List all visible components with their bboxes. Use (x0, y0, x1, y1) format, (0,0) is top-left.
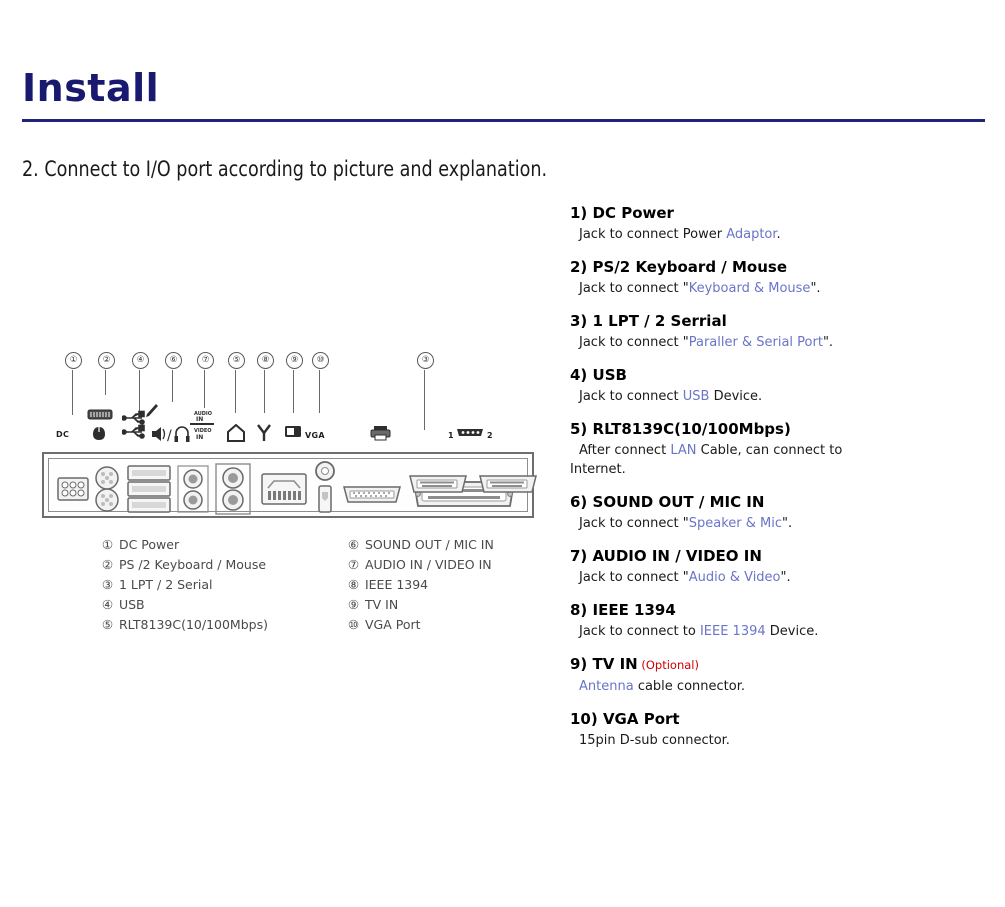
legend-item: ③ 1 LPT / 2 Serial (100, 575, 268, 595)
callout-leader-line (293, 370, 294, 413)
explanation-body-before: Jack to connect Power (579, 227, 726, 242)
callout-number: ⑦ (197, 352, 214, 369)
legend-item: ⑥ SOUND OUT / MIC IN (346, 535, 494, 555)
explanation-body: Jack to connect "Audio & Video". (570, 568, 970, 587)
explanation-heading: 1) DC Power (570, 203, 970, 223)
explanation-body: Jack to connect Power Adaptor. (570, 225, 970, 244)
explanation-body: Jack to connect to IEEE 1394 Device. (570, 622, 970, 641)
explanation-list: 1) DC PowerJack to connect Power Adaptor… (570, 203, 970, 763)
legend-item: ⑧ IEEE 1394 (346, 575, 494, 595)
callout-number: ④ (132, 352, 149, 369)
explanation-heading-text: 2) PS/2 Keyboard / Mouse (570, 258, 787, 276)
callout-number: ① (65, 352, 82, 369)
explanation-heading-text: 8) IEEE 1394 (570, 601, 676, 619)
explanation-body-accent: Antenna (579, 679, 634, 694)
callout-leader-line (264, 370, 265, 413)
callout-leader-line (319, 370, 320, 413)
explanation-heading-text: 9) TV IN (570, 655, 638, 673)
legend-label: RLT8139C(10/100Mbps) (115, 617, 268, 632)
vga-monitor-icon (284, 425, 302, 440)
lan-rj45-port (262, 474, 306, 504)
explanation-heading-text: 3) 1 LPT / 2 Serrial (570, 312, 727, 330)
explanation-item: 6) SOUND OUT / MIC INJack to connect "Sp… (570, 492, 970, 533)
callout-number: ⑥ (165, 352, 182, 369)
explanation-body-after: Device. (766, 624, 819, 639)
section-subtitle: 2. Connect to I/O port according to pict… (22, 157, 547, 181)
legend-marker: ① (100, 535, 115, 555)
explanation-body: Jack to connect "Paraller & Serial Port"… (570, 333, 970, 352)
explanation-item: 10) VGA Port15pin D-sub connector. (570, 709, 970, 750)
explanation-body-before: Jack to connect to (579, 624, 700, 639)
explanation-body: Antenna cable connector. (570, 677, 970, 696)
explanation-heading-text: 5) RLT8139C(10/100Mbps) (570, 420, 791, 438)
callout-leader-line (72, 370, 73, 415)
sound-out-mic-in-icon: / (150, 424, 190, 444)
explanation-body-before: Jack to connect " (579, 335, 689, 350)
page-title: Install (22, 66, 159, 110)
legend-marker: ③ (100, 575, 115, 595)
legend-column-right: ⑥ SOUND OUT / MIC IN⑦ AUDIO IN / VIDEO I… (346, 535, 494, 635)
legend-column-left: ① DC Power② PS /2 Keyboard / Mouse③ 1 LP… (100, 535, 268, 635)
legend-label: USB (115, 597, 145, 612)
explanation-body: Jack to connect "Keyboard & Mouse". (570, 279, 970, 298)
explanation-heading: 2) PS/2 Keyboard / Mouse (570, 257, 970, 277)
serial-port-2-label: 2 (487, 431, 493, 440)
explanation-item: 1) DC PowerJack to connect Power Adaptor… (570, 203, 970, 244)
legend-marker: ⑩ (346, 615, 361, 635)
usb-ports (128, 466, 170, 512)
callout-number: ③ (417, 352, 434, 369)
legend-label: IEEE 1394 (361, 577, 428, 592)
explanation-item: 2) PS/2 Keyboard / MouseJack to connect … (570, 257, 970, 298)
callout-number: ⑩ (312, 352, 329, 369)
legend-item: ⑤ RLT8139C(10/100Mbps) (100, 615, 268, 635)
explanation-body-accent: Speaker & Mic (689, 516, 782, 531)
explanation-body-after: cable connector. (634, 679, 745, 694)
dc-label: DC (56, 430, 69, 439)
serial-port-b (480, 476, 536, 492)
legend-label: TV IN (361, 597, 398, 612)
callout-number: ⑨ (286, 352, 303, 369)
svg-text:/: / (167, 428, 172, 444)
explanation-heading: 7) AUDIO IN / VIDEO IN (570, 546, 970, 566)
explanation-body-after: . (777, 227, 781, 242)
callout-leader-line (204, 370, 205, 408)
explanation-body-accent: Audio & Video (689, 570, 781, 585)
serial-connector-icon (455, 426, 485, 439)
explanation-body-before: Jack to connect " (579, 281, 689, 296)
antenna-icon (256, 424, 272, 442)
explanation-heading: 8) IEEE 1394 (570, 600, 970, 620)
legend-label: SOUND OUT / MIC IN (361, 537, 494, 552)
explanation-item: 8) IEEE 1394Jack to connect to IEEE 1394… (570, 600, 970, 641)
legend-item: ⑦ AUDIO IN / VIDEO IN (346, 555, 494, 575)
legend-marker: ⑦ (346, 555, 361, 575)
explanation-body-before: 15pin D-sub connector. (579, 733, 730, 748)
explanation-body: After connect LAN Cable, can connect to … (570, 441, 900, 479)
explanation-body-after: Device. (709, 389, 762, 404)
legend-marker: ⑨ (346, 595, 361, 615)
tv-in-antenna-port (316, 462, 334, 480)
legend-marker: ④ (100, 595, 115, 615)
audio-video-in-icon: AUDIO IN VIDEO IN (190, 408, 216, 442)
legend-label: AUDIO IN / VIDEO IN (361, 557, 492, 572)
callout-leader-line (424, 370, 425, 430)
lan-icon (226, 424, 246, 442)
explanation-heading: 10) VGA Port (570, 709, 970, 729)
explanation-body-after: ". (782, 516, 792, 531)
legend-item: ⑩ VGA Port (346, 615, 494, 635)
callout-leader-line (235, 370, 236, 413)
sound-jack-group (178, 466, 208, 512)
legend-label: VGA Port (361, 617, 421, 632)
legend-label: DC Power (115, 537, 179, 552)
serial-ports-artwork (404, 470, 544, 500)
explanation-item: 5) RLT8139C(10/100Mbps)After connect LAN… (570, 419, 970, 479)
mouse-icon (90, 426, 108, 442)
explanation-body-accent: USB (683, 389, 710, 404)
callout-number: ⑤ (228, 352, 245, 369)
explanation-body-accent: Adaptor (726, 227, 776, 242)
explanation-heading: 6) SOUND OUT / MIC IN (570, 492, 970, 512)
vga-label: VGA (305, 431, 325, 440)
explanation-body: 15pin D-sub connector. (570, 731, 970, 750)
explanation-heading: 3) 1 LPT / 2 Serrial (570, 311, 970, 331)
explanation-body: Jack to connect "Speaker & Mic". (570, 514, 970, 533)
explanation-body-after: ". (823, 335, 833, 350)
explanation-item: 7) AUDIO IN / VIDEO INJack to connect "A… (570, 546, 970, 587)
explanation-heading-text: 4) USB (570, 366, 627, 384)
explanation-heading-text: 6) SOUND OUT / MIC IN (570, 493, 764, 511)
legend-marker: ⑧ (346, 575, 361, 595)
explanation-heading: 4) USB (570, 365, 970, 385)
explanation-body-before: Jack to connect (579, 389, 683, 404)
explanation-heading: 9) TV IN (Optional) (570, 654, 970, 675)
explanation-body-before: After connect (579, 443, 670, 458)
legend-item: ② PS /2 Keyboard / Mouse (100, 555, 268, 575)
explanation-body-accent: Keyboard & Mouse (689, 281, 811, 296)
explanation-heading: 5) RLT8139C(10/100Mbps) (570, 419, 970, 439)
legend-label: PS /2 Keyboard / Mouse (115, 557, 266, 572)
mic-icon (142, 402, 160, 422)
explanation-body-accent: LAN (670, 443, 696, 458)
explanation-body-before: Jack to connect " (579, 516, 689, 531)
printer-icon (370, 425, 392, 441)
callout-number: ② (98, 352, 115, 369)
optional-badge: (Optional) (638, 658, 699, 672)
explanation-body-after: ". (810, 281, 820, 296)
dc-power-port (58, 478, 88, 500)
legend-marker: ② (100, 555, 115, 575)
svg-text:IN: IN (196, 434, 203, 441)
ps2-ports (96, 467, 118, 511)
explanation-item: 4) USBJack to connect USB Device. (570, 365, 970, 406)
serial-port-a (410, 476, 466, 492)
vga-dsub-port (344, 487, 400, 502)
explanation-body-before: Jack to connect " (579, 570, 689, 585)
explanation-body-accent: Paraller & Serial Port (689, 335, 823, 350)
legend-item: ⑨ TV IN (346, 595, 494, 615)
explanation-body-accent: IEEE 1394 (700, 624, 766, 639)
explanation-heading-text: 10) VGA Port (570, 710, 680, 728)
ieee1394-port (319, 486, 331, 512)
legend-item: ④ USB (100, 595, 268, 615)
callout-leader-line (139, 370, 140, 415)
explanation-item: 3) 1 LPT / 2 SerrialJack to connect "Par… (570, 311, 970, 352)
legend-marker: ⑥ (346, 535, 361, 555)
callout-leader-line (105, 370, 106, 395)
audio-video-jack-group (216, 464, 250, 514)
legend-item: ① DC Power (100, 535, 268, 555)
explanation-heading-text: 7) AUDIO IN / VIDEO IN (570, 547, 762, 565)
explanation-item: 9) TV IN (Optional)Antenna cable connect… (570, 654, 970, 696)
title-rule-divider (22, 119, 985, 122)
legend-marker: ⑤ (100, 615, 115, 635)
explanation-heading-text: 1) DC Power (570, 204, 674, 222)
callout-number: ⑧ (257, 352, 274, 369)
serial-port-1-label: 1 (448, 431, 454, 440)
svg-text:IN: IN (196, 416, 203, 423)
callout-leader-line (172, 370, 173, 402)
legend-label: 1 LPT / 2 Serial (115, 577, 213, 592)
explanation-body: Jack to connect USB Device. (570, 387, 970, 406)
explanation-body-after: ". (781, 570, 791, 585)
